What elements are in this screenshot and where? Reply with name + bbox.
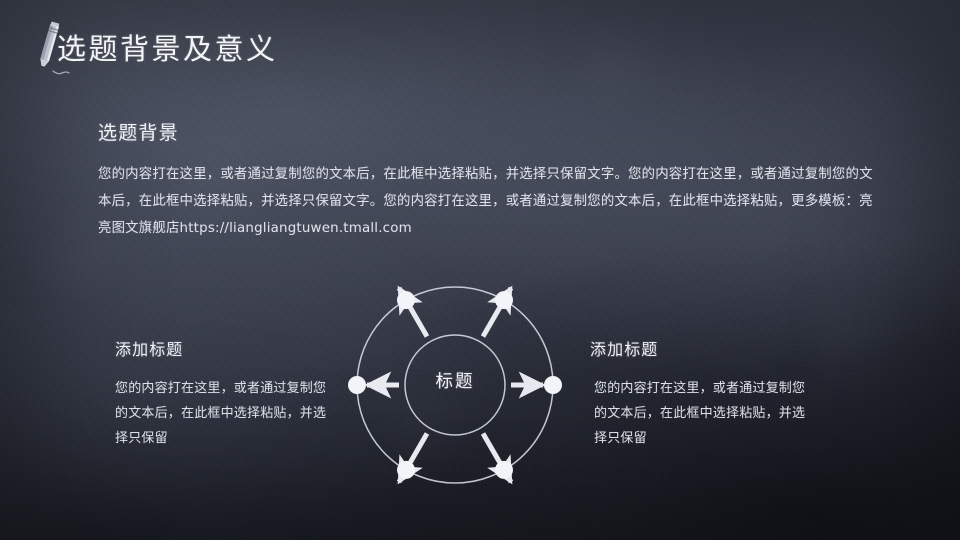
block-right-body: 您的内容打在这里，或者通过复制您的文本后，在此框中选择粘贴，并选择只保留	[590, 376, 809, 451]
page-title: 选题背景及意义	[57, 26, 278, 68]
block-left-body: 您的内容打在这里，或者通过复制您的文本后，在此框中选择粘贴，并选择只保留	[115, 376, 330, 451]
node-lower-left[interactable]	[397, 461, 415, 479]
slide-canvas: 选题背景及意义 选题背景 您的内容打在这里，或者通过复制您的文本后，在此框中选择…	[0, 0, 960, 540]
node-upper-left[interactable]	[397, 291, 415, 309]
diagram-center-label: 标题	[335, 368, 575, 393]
block-right-heading: 添加标题	[590, 336, 825, 360]
intro-body-text: 您的内容打在这里，或者通过复制您的文本后，在此框中选择粘贴，并选择只保留文字。您…	[98, 161, 873, 242]
radial-diagram: 标题	[335, 265, 575, 505]
intro-heading: 选题背景	[98, 118, 888, 145]
slide-header: 选题背景及意义	[0, 0, 960, 90]
node-upper-right[interactable]	[495, 291, 513, 309]
content-block-left: 添加标题 您的内容打在这里，或者通过复制您的文本后，在此框中选择粘贴，并选择只保…	[115, 336, 350, 451]
intro-section: 选题背景 您的内容打在这里，或者通过复制您的文本后，在此框中选择粘贴，并选择只保…	[98, 118, 888, 242]
block-left-heading: 添加标题	[115, 336, 350, 360]
content-block-right: 添加标题 您的内容打在这里，或者通过复制您的文本后，在此框中选择粘贴，并选择只保…	[590, 336, 825, 451]
node-lower-right[interactable]	[495, 461, 513, 479]
